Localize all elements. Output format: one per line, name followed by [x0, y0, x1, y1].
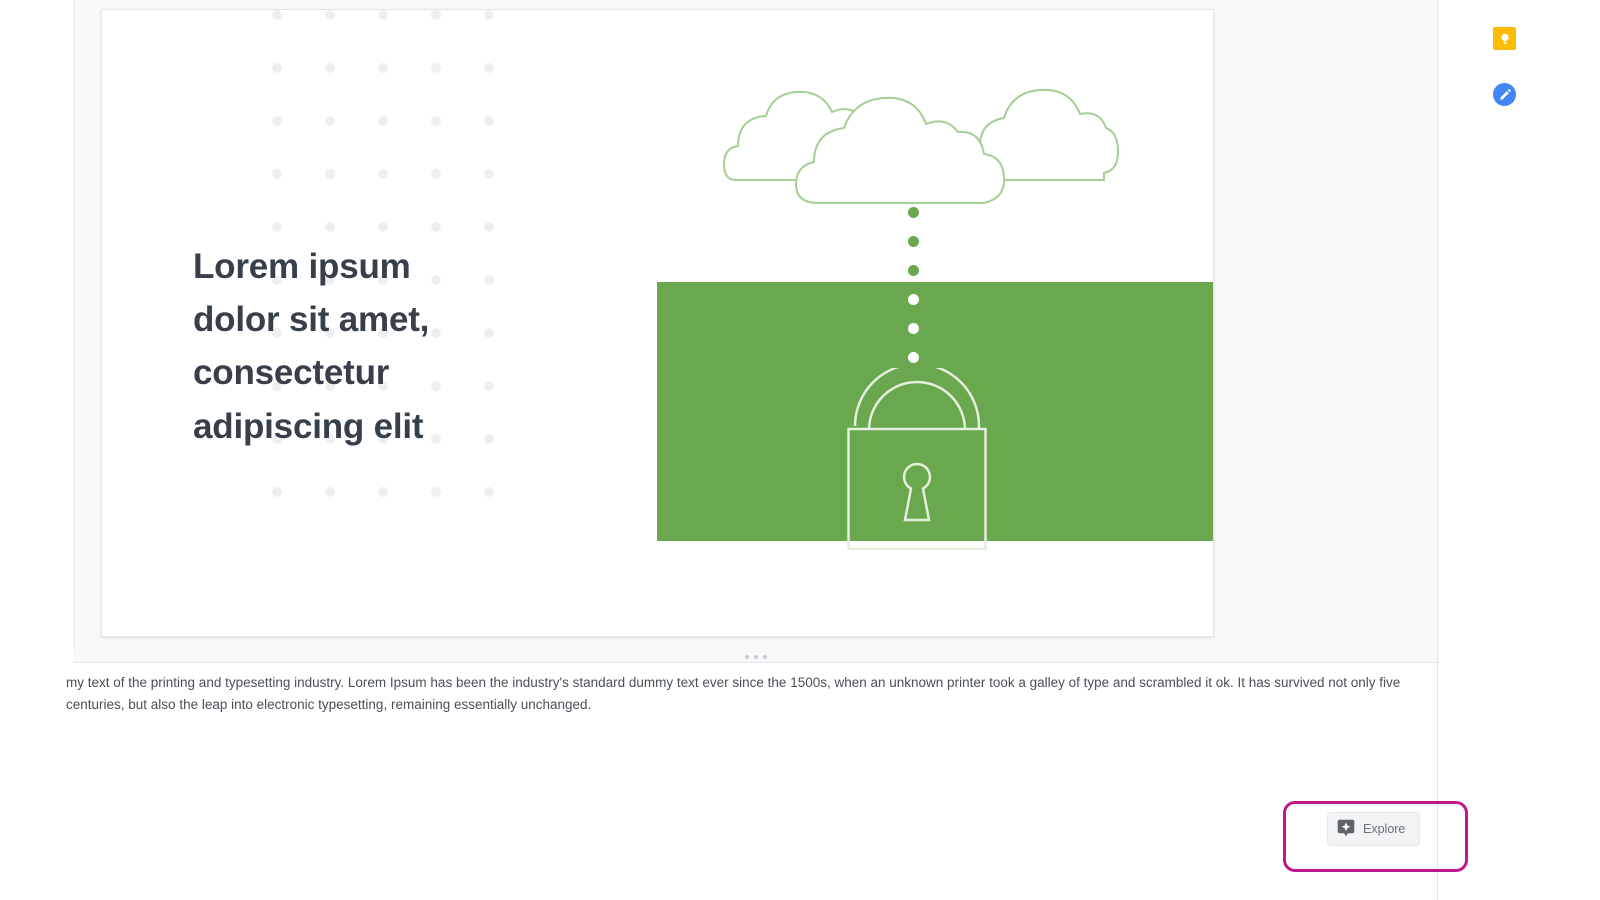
grid-dot [378, 116, 388, 126]
grid-dot [431, 487, 441, 497]
explore-sparkle-icon [1337, 819, 1355, 839]
explore-button[interactable]: Explore [1327, 812, 1420, 846]
grid-dot [431, 169, 441, 179]
workspace-right-divider [1437, 0, 1438, 900]
grid-dot [431, 10, 441, 20]
grid-dot [484, 116, 494, 126]
connection-dot [908, 323, 919, 334]
connection-dot [908, 236, 919, 247]
grid-dot [272, 10, 282, 20]
connection-dot [908, 207, 919, 218]
grid-dot [325, 63, 335, 73]
grid-dot [378, 169, 388, 179]
pencil-icon [1498, 88, 1512, 102]
grid-dot [484, 169, 494, 179]
grid-dot [272, 487, 282, 497]
connection-dot [908, 352, 919, 363]
grid-dot [272, 116, 282, 126]
grid-dot [431, 63, 441, 73]
editor-left-divider [74, 0, 75, 658]
connection-dot [908, 265, 919, 276]
drag-handle-icon[interactable] [745, 655, 767, 659]
grid-dot [325, 222, 335, 232]
grid-dot [378, 10, 388, 20]
explore-button-label: Explore [1363, 822, 1405, 836]
idea-lightbulb-button[interactable] [1493, 27, 1516, 50]
connection-dots [908, 207, 922, 377]
grid-dot [378, 487, 388, 497]
grid-dot [378, 63, 388, 73]
slide-canvas[interactable]: Lorem ipsum dolor sit amet, consectetur … [101, 9, 1214, 637]
grid-dot [431, 116, 441, 126]
grid-dot [325, 487, 335, 497]
right-side-rail [1440, 0, 1600, 900]
grid-dot [325, 169, 335, 179]
speaker-notes-pane[interactable]: my text of the printing and typesetting … [74, 662, 1437, 900]
grid-dot [378, 222, 388, 232]
grid-dot [484, 10, 494, 20]
grid-dot [484, 63, 494, 73]
grid-dot [272, 169, 282, 179]
padlock-outline-illustration [847, 368, 987, 550]
presentation-editor: Lorem ipsum dolor sit amet, consectetur … [0, 0, 1600, 900]
grid-dot [484, 487, 494, 497]
notes-pane-splitter[interactable] [74, 650, 1437, 662]
grid-dot [484, 222, 494, 232]
connection-dot [908, 294, 919, 305]
slide-title-textbox[interactable]: Lorem ipsum dolor sit amet, consectetur … [193, 240, 613, 453]
cloud-outline-illustration [722, 60, 1122, 205]
lightbulb-icon [1498, 32, 1512, 46]
edit-pencil-button[interactable] [1493, 83, 1516, 106]
grid-dot [272, 63, 282, 73]
grid-dot [325, 116, 335, 126]
grid-dot [272, 222, 282, 232]
grid-dot [431, 222, 441, 232]
speaker-notes-text[interactable]: my text of the printing and typesetting … [66, 672, 1406, 716]
grid-dot [325, 10, 335, 20]
